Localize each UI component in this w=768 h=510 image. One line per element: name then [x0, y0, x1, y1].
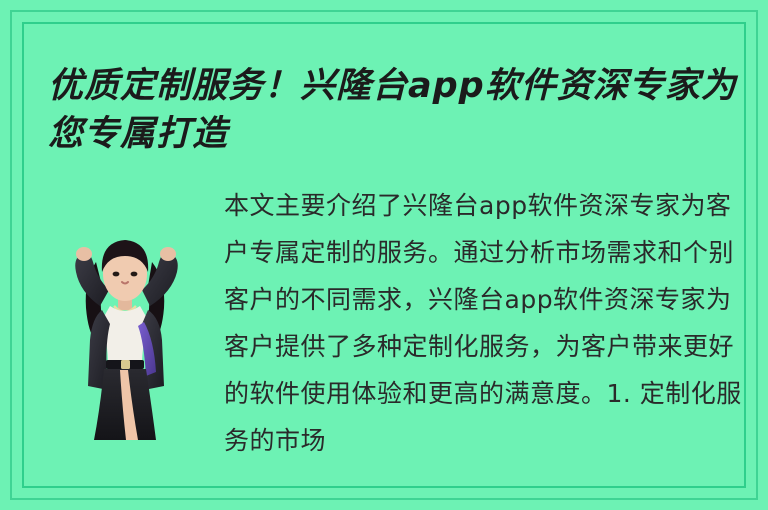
page-title: 优质定制服务！兴隆台app软件资深专家为您专属打造 — [48, 62, 738, 158]
poster-container: 优质定制服务！兴隆台app软件资深专家为您专属打造 — [0, 0, 768, 510]
body-paragraph: 本文主要介绍了兴隆台app软件资深专家为客户专属定制的服务。通过分析市场需求和个… — [224, 182, 744, 464]
woman-portrait-photo — [40, 210, 210, 440]
